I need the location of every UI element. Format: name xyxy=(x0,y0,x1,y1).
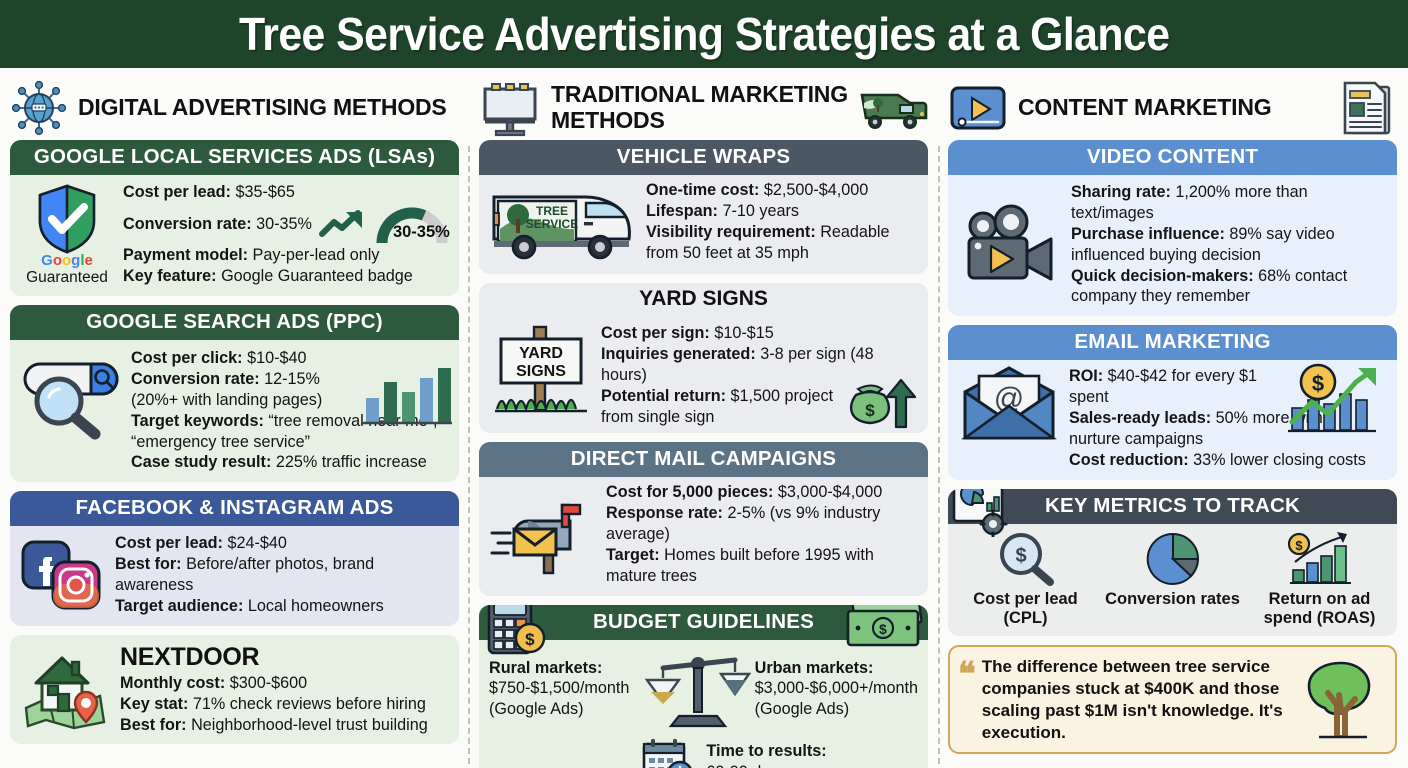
page-title: Tree Service Advertising Strategies at a… xyxy=(239,7,1169,61)
article-document-icon xyxy=(1339,79,1397,137)
growth-chart-coin-icon: $ xyxy=(1284,362,1388,440)
line-label: Target keywords: xyxy=(131,412,264,430)
facebook-instagram-icon xyxy=(19,536,107,614)
conversion-gauge-icon: 30-35% xyxy=(374,203,450,245)
mailbox-envelope-icon xyxy=(488,495,598,575)
card-lines: Cost per sign: $10-$15 Inquiries generat… xyxy=(601,321,918,427)
card-title-bar: KEY METRICS TO TRACK xyxy=(948,489,1397,524)
card-budget-guidelines[interactable]: $ BUDGET GUIDELINES $ xyxy=(479,605,928,768)
line-label: Cost per click: xyxy=(131,349,243,367)
google-guaranteed-shield-icon: Google Guaranteed xyxy=(19,182,115,287)
metrics-row: $ Cost per lead (CPL) xyxy=(948,524,1397,637)
bar-chart-icon xyxy=(360,360,452,428)
line-label: Target audience: xyxy=(115,597,243,615)
balance-scale-icon xyxy=(643,648,753,730)
metric-label: Conversion rates xyxy=(1105,590,1240,609)
time-value: 60-90 days xyxy=(706,762,826,768)
line-label: Key stat: xyxy=(120,695,188,713)
line-value: $3,000-$4,000 xyxy=(778,483,882,501)
card-google-search-ads-ppc[interactable]: GOOGLE SEARCH ADS (PPC) xyxy=(10,305,459,482)
line-label: Payment model: xyxy=(123,246,248,264)
card-title: GOOGLE LOCAL SERVICES ADS (LSAs) xyxy=(10,140,459,175)
svg-text:$: $ xyxy=(879,621,887,637)
svg-text:SERVICE: SERVICE xyxy=(526,217,578,231)
line-label: Purchase influence: xyxy=(1071,225,1225,243)
line-value: $10-$15 xyxy=(714,324,773,342)
line-label: Response rate: xyxy=(606,504,723,522)
card-direct-mail-campaigns[interactable]: DIRECT MAIL CAMPAIGNS xyxy=(479,442,928,595)
trend-up-arrow-icon xyxy=(318,209,370,239)
yard-sign-icon: YARD SIGNS xyxy=(489,321,593,417)
calculator-coin-icon: $ xyxy=(483,605,549,655)
cash-bills-icon: $ xyxy=(840,605,926,651)
line-value: 7-10 years xyxy=(722,202,798,220)
line-value: Local homeowners xyxy=(248,597,384,615)
card-google-local-services-ads[interactable]: GOOGLE LOCAL SERVICES ADS (LSAs) Google … xyxy=(10,140,459,296)
card-lines: Cost for 5,000 pieces: $3,000-$4,000 Res… xyxy=(606,482,919,586)
card-title: VEHICLE WRAPS xyxy=(479,140,928,175)
line-label: Cost reduction: xyxy=(1069,451,1189,469)
quote-callout: ❝ The difference between tree service co… xyxy=(948,645,1397,754)
line-label: Quick decision-makers: xyxy=(1071,267,1254,285)
svg-text:TREE: TREE xyxy=(536,204,568,218)
line-label: One-time cost: xyxy=(646,181,759,199)
card-lines: Cost per lead: $35-$65 Conversion rate: … xyxy=(123,182,450,287)
line-label: Case study result: xyxy=(131,453,271,471)
column-title-digital: DIGITAL ADVERTISING METHODS xyxy=(78,95,447,121)
quote-mark-icon: ❝ xyxy=(958,662,976,687)
metric-cost-per-lead[interactable]: $ Cost per lead (CPL) xyxy=(952,530,1099,629)
card-nextdoor[interactable]: NEXTDOOR Monthly cost: $300-$600 Key sta… xyxy=(10,635,459,744)
line-label: ROI: xyxy=(1069,367,1103,385)
infographic-page: Tree Service Advertising Strategies at a… xyxy=(0,0,1408,768)
envelope-at-icon: @ xyxy=(957,366,1061,444)
card-facebook-instagram-ads[interactable]: FACEBOOK & INSTAGRAM ADS xyxy=(10,491,459,626)
line-value: $35-$65 xyxy=(235,183,294,201)
card-title: EMAIL MARKETING xyxy=(948,325,1397,360)
green-van-icon xyxy=(858,85,928,131)
house-map-pin-icon xyxy=(20,646,112,732)
column-content-marketing: CONTENT MARKETING VIDE xyxy=(938,68,1407,768)
card-title: GOOGLE SEARCH ADS (PPC) xyxy=(10,305,459,340)
tree-icon xyxy=(1297,657,1385,743)
card-video-content[interactable]: VIDEO CONTENT xyxy=(948,140,1397,316)
column-title-content: CONTENT MARKETING xyxy=(1018,95,1329,121)
gauge-value: 30-35% xyxy=(393,222,450,243)
columns-container: DIGITAL ADVERTISING METHODS GOOGLE LOCAL… xyxy=(0,68,1408,768)
svg-text:$: $ xyxy=(1312,371,1324,396)
card-title: KEY METRICS TO TRACK xyxy=(1045,494,1300,517)
card-vehicle-wraps[interactable]: VEHICLE WRAPS TREE SERVICE xyxy=(479,140,928,274)
wrapped-van-icon: TREE SERVICE xyxy=(488,179,638,265)
video-play-icon xyxy=(948,82,1008,134)
title-banner: Tree Service Advertising Strategies at a… xyxy=(0,0,1408,68)
card-title: DIRECT MAIL CAMPAIGNS xyxy=(479,442,928,477)
dashboard-gear-icon xyxy=(950,489,1014,537)
line-label: Target: xyxy=(606,546,660,564)
column-traditional-marketing: TRADITIONAL MARKETING METHODS VEHICLE W xyxy=(469,68,938,768)
line-label: Potential return: xyxy=(601,387,726,405)
svg-text:$: $ xyxy=(1295,538,1303,553)
time-label: Time to results: xyxy=(706,741,826,762)
calendar-clock-icon xyxy=(640,736,698,768)
line-label: Cost per lead: xyxy=(123,183,231,201)
line-label: Cost for 5,000 pieces: xyxy=(606,483,773,501)
line-label: Best for: xyxy=(120,716,187,734)
line-value: $24-$40 xyxy=(227,534,286,552)
billboard-icon xyxy=(479,79,541,137)
line-label: Inquiries generated: xyxy=(601,345,756,363)
metric-label: Return on ad spend (ROAS) xyxy=(1246,590,1393,629)
card-title: VIDEO CONTENT xyxy=(948,140,1397,175)
rural-label: Rural markets: xyxy=(489,658,641,679)
svg-text:$: $ xyxy=(1015,545,1026,567)
line-value: Pay-per-lead only xyxy=(253,246,380,264)
magnifier-dollar-icon: $ xyxy=(994,530,1058,588)
line-label: Sales-ready leads: xyxy=(1069,409,1211,427)
globe-network-icon xyxy=(10,79,68,137)
quote-text: The difference between tree service comp… xyxy=(982,656,1291,743)
line-value: $10-$40 xyxy=(247,349,306,367)
card-lines: NEXTDOOR Monthly cost: $300-$600 Key sta… xyxy=(120,643,449,736)
metric-conversion-rates[interactable]: Conversion rates xyxy=(1099,530,1246,629)
line-label: Cost per sign: xyxy=(601,324,710,342)
line-label: Lifespan: xyxy=(646,202,718,220)
column-heading-content: CONTENT MARKETING xyxy=(948,76,1397,140)
coin-bar-chart-arrow-icon: $ xyxy=(1285,530,1355,588)
svg-text:$: $ xyxy=(865,401,875,420)
card-title: FACEBOOK & INSTAGRAM ADS xyxy=(10,491,459,526)
line-label: Monthly cost: xyxy=(120,674,225,692)
card-title: YARD SIGNS xyxy=(489,287,918,311)
line-label: Cost per lead: xyxy=(115,534,223,552)
card-yard-signs[interactable]: YARD SIGNS YARD SIGNS xyxy=(479,283,928,433)
google-guaranteed-caption: Guaranteed xyxy=(19,269,115,287)
line-value: Neighborhood-level trust building xyxy=(191,716,428,734)
card-email-marketing[interactable]: EMAIL MARKETING @ ROI: $40-$42 for every… xyxy=(948,325,1397,479)
video-camera-icon xyxy=(957,204,1063,286)
card-lines: ROI: $40-$42 for every $1 spent Sales-re… xyxy=(1069,366,1388,470)
metric-return-on-ad-spend[interactable]: $ xyxy=(1246,530,1393,629)
card-title: BUDGET GUIDELINES xyxy=(593,610,814,633)
card-title: NEXTDOOR xyxy=(120,643,449,672)
urban-value: $3,000-$6,000+/month (Google Ads) xyxy=(755,678,918,720)
line-label: Sharing rate: xyxy=(1071,183,1171,201)
svg-text:$: $ xyxy=(525,630,535,649)
card-lines: Sharing rate: 1,200% more than text/imag… xyxy=(1071,182,1388,307)
urban-label: Urban markets: xyxy=(755,658,918,679)
metric-label: Cost per lead (CPL) xyxy=(952,590,1099,629)
line-label: Key feature: xyxy=(123,267,217,285)
column-title-traditional: TRADITIONAL MARKETING METHODS xyxy=(551,82,848,134)
column-heading-digital: DIGITAL ADVERTISING METHODS xyxy=(10,76,459,140)
search-magnifier-icon xyxy=(19,348,123,440)
line-value: 30-35% xyxy=(256,215,312,233)
pie-chart-icon xyxy=(1142,530,1204,588)
line-label: Visibility requirement: xyxy=(646,223,816,241)
line-label: Best for: xyxy=(115,555,182,573)
line-value: $2,500-$4,000 xyxy=(764,181,868,199)
svg-text:YARD: YARD xyxy=(519,345,563,362)
card-lines: One-time cost: $2,500-$4,000 Lifespan: 7… xyxy=(646,180,919,264)
line-value: $300-$600 xyxy=(230,674,307,692)
card-lines: Cost per click: $10-$40 Conversion rate:… xyxy=(131,348,450,473)
card-title-bar: $ BUDGET GUIDELINES $ xyxy=(479,605,928,640)
line-value: 12-15% xyxy=(264,370,320,388)
svg-text:SIGNS: SIGNS xyxy=(516,363,566,380)
column-heading-traditional: TRADITIONAL MARKETING METHODS xyxy=(479,76,928,140)
line-value: 71% check reviews before hiring xyxy=(193,695,426,713)
line-value: Google Guaranteed badge xyxy=(221,267,413,285)
card-lines: Cost per lead: $24-$40 Best for: Before/… xyxy=(115,533,450,617)
line-label: Conversion rate: xyxy=(123,215,252,233)
card-key-metrics-to-track[interactable]: KEY METRICS TO TRACK $ Cost per lead (CP… xyxy=(948,489,1397,637)
line-value: 33% lower closing costs xyxy=(1193,451,1366,469)
rural-value: $750-$1,500/month (Google Ads) xyxy=(489,678,641,720)
line-label: Conversion rate: xyxy=(131,370,260,388)
column-digital-advertising: DIGITAL ADVERTISING METHODS GOOGLE LOCAL… xyxy=(0,68,469,768)
line-value: 225% traffic increase xyxy=(276,453,427,471)
money-bag-up-arrow-icon: $ xyxy=(840,375,916,431)
